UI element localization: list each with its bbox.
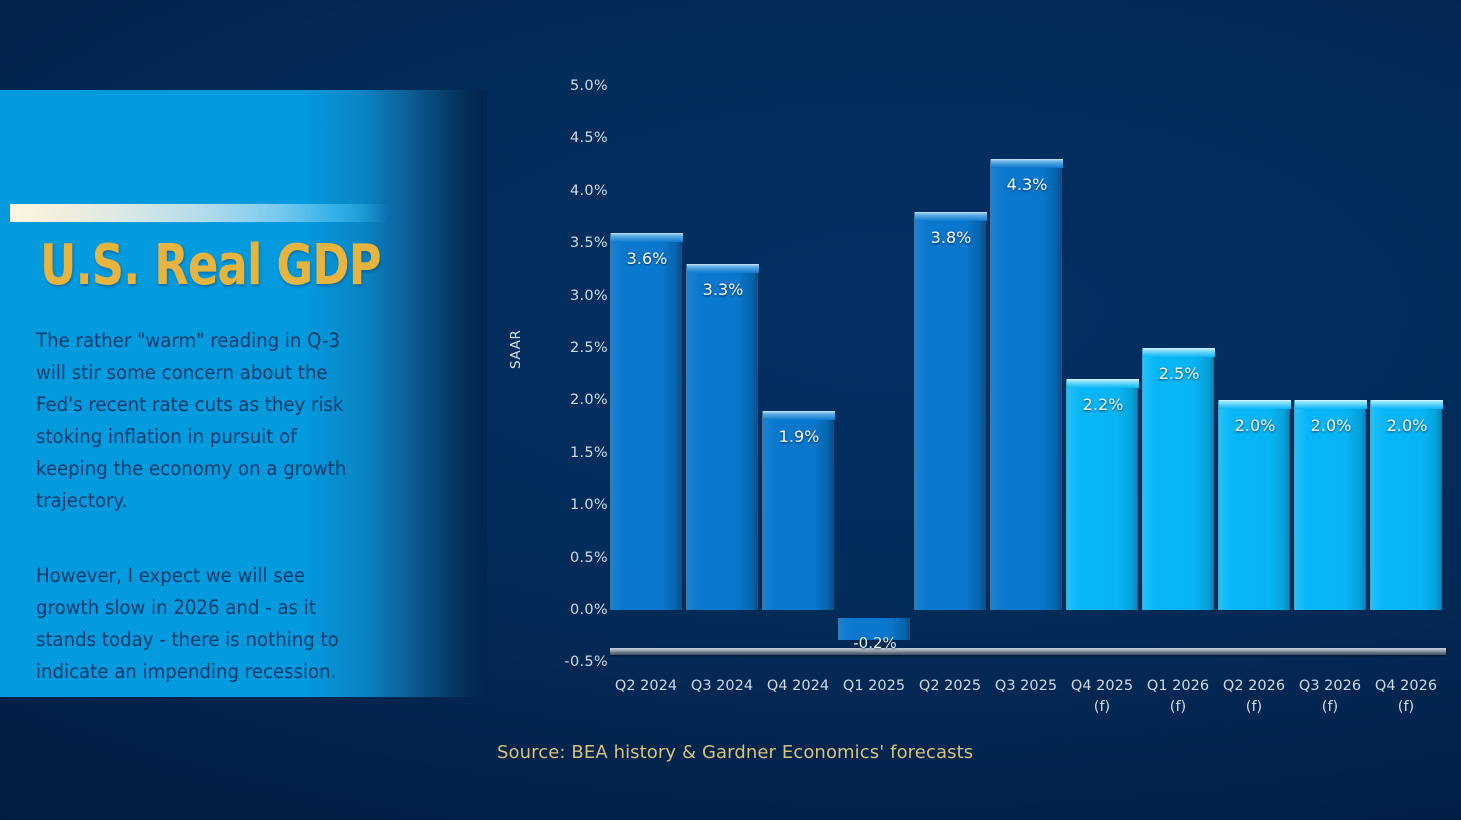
y-axis: 5.0%4.5%4.0%3.5%3.0%2.5%2.0%1.5%1.0%0.5%… [500, 40, 608, 740]
bar-top-cap [763, 411, 835, 420]
y-axis-tick: 2.5% [538, 340, 608, 356]
y-axis-tick: 5.0% [538, 78, 608, 94]
y-axis-tick: 4.5% [538, 130, 608, 146]
bar-value-label: 1.9% [763, 427, 835, 446]
gdp-bar-chart: 5.0%4.5%4.0%3.5%3.0%2.5%2.0%1.5%1.0%0.5%… [500, 40, 1461, 780]
x-axis-label: Q4 2026(f) [1358, 676, 1454, 718]
y-axis-tick: 1.0% [538, 497, 608, 513]
x-axis-label-period: Q3 2024 [691, 678, 753, 694]
bar-q2-2026[interactable]: 2.0% [1218, 400, 1290, 610]
bar-q3-2024[interactable]: 3.3% [686, 264, 758, 610]
bar-top-cap [1371, 400, 1443, 409]
bar-top-cap [611, 233, 683, 242]
bar-value-label: 3.3% [687, 280, 759, 299]
bar-q4-2025[interactable]: 2.2% [1066, 379, 1138, 610]
bar-q2-2025[interactable]: 3.8% [914, 212, 986, 610]
x-axis-label-period: Q1 2026 [1147, 678, 1209, 694]
x-axis-label-period: Q3 2025 [995, 678, 1057, 694]
x-axis-label-period: Q4 2024 [767, 678, 829, 694]
x-axis-label-period: Q4 2026 [1375, 678, 1437, 694]
bar-top-cap [687, 264, 759, 273]
y-axis-tick: 4.0% [538, 183, 608, 199]
bar-top-cap [991, 159, 1063, 168]
x-axis-label-period: Q1 2025 [843, 678, 905, 694]
bar-value-label: 3.8% [915, 228, 987, 247]
bar-top-cap [1219, 400, 1291, 409]
bar-value-label: 2.5% [1143, 364, 1215, 383]
bar-q3-2025[interactable]: 4.3% [990, 159, 1062, 610]
bar-value-label: 2.0% [1295, 416, 1367, 435]
bar-q3-2026[interactable]: 2.0% [1294, 400, 1366, 610]
bar-top-cap [915, 212, 987, 221]
y-axis-tick: -0.5% [538, 654, 608, 670]
bar-value-label: 3.6% [611, 249, 683, 268]
y-axis-tick: 2.0% [538, 392, 608, 408]
bar-value-label: -0.2% [839, 634, 911, 652]
x-axis-label-period: Q2 2024 [615, 678, 677, 694]
slide-root: U.S. Real GDP The rather "warm" reading … [0, 0, 1461, 820]
y-axis-tick: 3.5% [538, 235, 608, 251]
bar-top-cap [1067, 379, 1139, 388]
commentary-panel: U.S. Real GDP The rather "warm" reading … [0, 90, 487, 697]
zero-baseline [610, 648, 1446, 655]
bar-top-cap [1143, 348, 1215, 357]
commentary-paragraph-2: However, I expect we will see growth slo… [36, 560, 362, 688]
bar-value-label: 2.0% [1219, 416, 1291, 435]
panel-accent-bar [10, 204, 388, 222]
x-axis-label-period: Q4 2025 [1071, 678, 1133, 694]
y-axis-label: SAAR [508, 330, 524, 369]
bar-q1-2026[interactable]: 2.5% [1142, 348, 1214, 610]
commentary-paragraph-1: The rather "warm" reading in Q-3 will st… [36, 325, 362, 517]
y-axis-tick: 0.5% [538, 550, 608, 566]
y-axis-tick: 0.0% [538, 602, 608, 618]
bar-q4-2024[interactable]: 1.9% [762, 411, 834, 610]
page-title: U.S. Real GDP [40, 238, 376, 294]
y-axis-tick: 1.5% [538, 445, 608, 461]
bar-value-label: 2.2% [1067, 395, 1139, 414]
y-axis-tick: 3.0% [538, 288, 608, 304]
x-axis-label-forecast-marker: (f) [1358, 697, 1454, 718]
bar-top-cap [1295, 400, 1367, 409]
x-axis-label-period: Q2 2026 [1223, 678, 1285, 694]
x-axis-label-period: Q3 2026 [1299, 678, 1361, 694]
bar-value-label: 4.3% [991, 175, 1063, 194]
source-note: Source: BEA history & Gardner Economics'… [497, 742, 973, 763]
bar-q1-2025[interactable]: -0.2% [838, 618, 910, 640]
bar-q4-2026[interactable]: 2.0% [1370, 400, 1442, 610]
bar-q2-2024[interactable]: 3.6% [610, 233, 682, 610]
bar-value-label: 2.0% [1371, 416, 1443, 435]
x-axis-label-period: Q2 2025 [919, 678, 981, 694]
